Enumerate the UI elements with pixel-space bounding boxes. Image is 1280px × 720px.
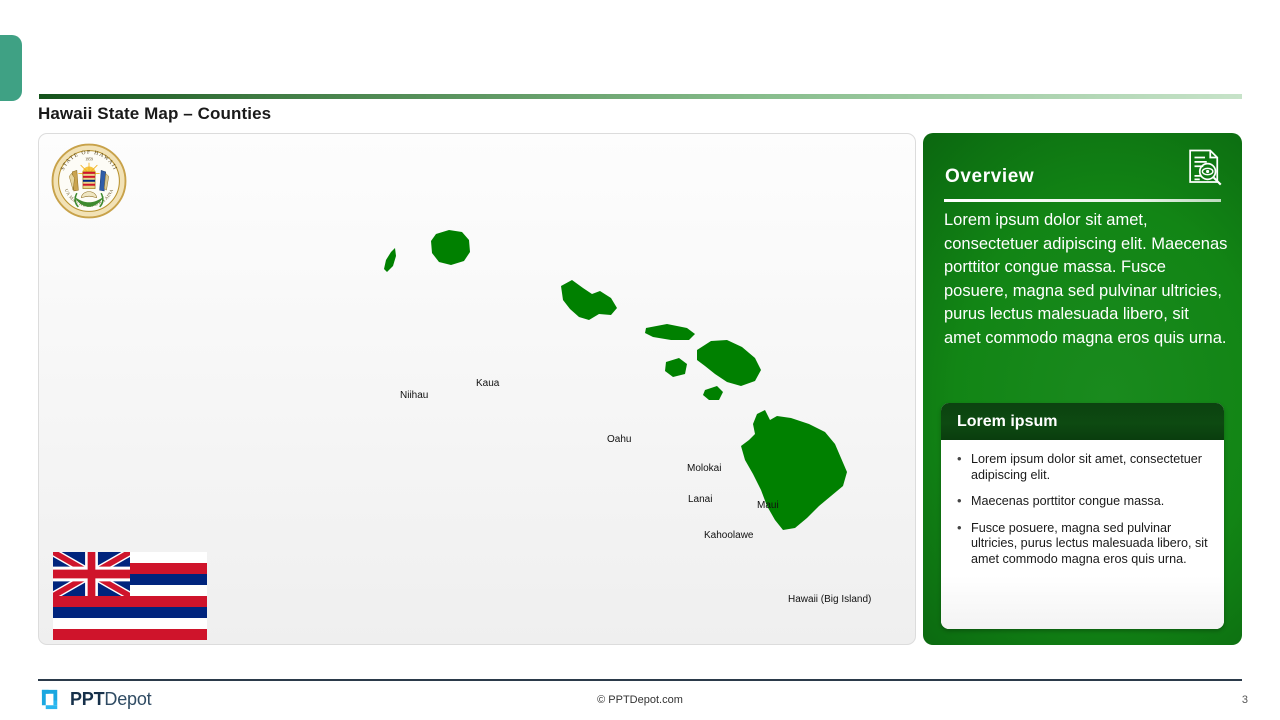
overview-divider: [944, 199, 1221, 202]
hawaii-state-flag-icon: [53, 552, 207, 640]
island-label-maui: Maui: [757, 500, 779, 511]
island-label-oahu: Oahu: [607, 434, 631, 445]
document-review-icon: [1184, 147, 1226, 189]
map-panel: STATE OF HAWAII UA MAU KE EA O KA AINA 1…: [38, 133, 916, 645]
lorem-ipsum-card-title: Lorem ipsum: [957, 413, 1057, 431]
footer-copyright: © PPTDepot.com: [0, 694, 1280, 706]
island-label-kauai: Kaua: [476, 378, 499, 389]
island-label-niihau: Niihau: [400, 390, 428, 401]
list-item: Fusce posuere, magna sed pulvinar ultric…: [951, 521, 1212, 568]
lorem-ipsum-card-body: Lorem ipsum dolor sit amet, consectetuer…: [941, 440, 1224, 629]
lorem-ipsum-card: Lorem ipsum Lorem ipsum dolor sit amet, …: [941, 403, 1224, 629]
list-item: Maecenas porttitor congue massa.: [951, 494, 1212, 510]
island-label-kahoolawe: Kahoolawe: [704, 530, 753, 541]
bullet-list: Lorem ipsum dolor sit amet, consectetuer…: [951, 452, 1212, 568]
overview-heading: Overview: [945, 166, 1034, 188]
page-number: 3: [1242, 694, 1248, 706]
overview-panel: Overview Lorem ipsum dolor sit amet, con…: [923, 133, 1242, 645]
page-title: Hawaii State Map – Counties: [38, 104, 271, 124]
header-divider: [39, 94, 1242, 99]
overview-body-text: Lorem ipsum dolor sit amet, consectetuer…: [944, 209, 1228, 350]
island-label-molokai: Molokai: [687, 463, 721, 474]
left-accent-tab: [0, 35, 22, 101]
slide-canvas: Hawaii State Map – Counties STATE OF HAW…: [0, 0, 1280, 720]
lorem-ipsum-card-header: Lorem ipsum: [941, 403, 1224, 440]
island-label-hawaii-big-island: Hawaii (Big Island): [788, 594, 871, 605]
list-item: Lorem ipsum dolor sit amet, consectetuer…: [951, 452, 1212, 483]
island-label-lanai: Lanai: [688, 494, 712, 505]
footer-divider: [38, 679, 1242, 681]
